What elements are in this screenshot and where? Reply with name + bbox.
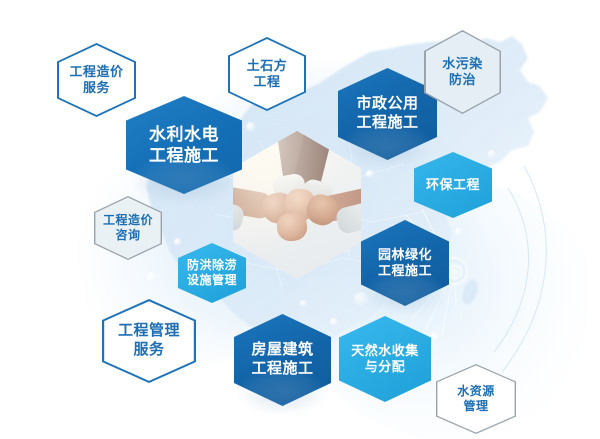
hexagon-label: 园林绿化 工程施工 (378, 247, 432, 279)
hexagon-label: 水利水电 工程施工 (149, 124, 219, 166)
hexagon-label: 土石方 工程 (247, 58, 288, 90)
hexagon-label: 水资源 管理 (457, 384, 495, 414)
hexagon-label: 工程造价 服务 (69, 64, 123, 96)
hexagon-label: 市政公用 工程施工 (356, 95, 418, 132)
hexagon-label: 房屋建筑 工程施工 (251, 341, 313, 378)
bokeh-dot (300, 300, 307, 307)
hexagon-flood-control-drainage-facility-management[interactable]: 防洪除涝 设施管理 (178, 243, 246, 303)
bokeh-dot (430, 332, 439, 341)
hexagon-water-pollution-control[interactable]: 水污染 防治 (424, 30, 501, 114)
bokeh-dot (218, 404, 234, 420)
hexagon-natural-water-collection-distribution[interactable]: 天然水收集 与分配 (339, 316, 431, 402)
bokeh-dot (455, 228, 462, 235)
hexagon-municipal-public-works-construction[interactable]: 市政公用 工程施工 (338, 68, 437, 160)
hexagon-engineering-management-service[interactable]: 工程管理 服务 (102, 299, 196, 383)
hexagon-label: 水污染 防治 (442, 56, 483, 88)
hexagon-label: 天然水收集 与分配 (351, 343, 419, 375)
bokeh-dot (366, 170, 374, 178)
hexagon-label: 防洪除涝 设施管理 (187, 258, 237, 288)
bokeh-dot (146, 272, 156, 282)
hexagon-label: 工程管理 服务 (118, 322, 180, 359)
hexagon-label: 工程造价 咨询 (103, 213, 153, 243)
hexagon-label: 环保工程 (426, 177, 480, 193)
hexagon-engineering-cost-service[interactable]: 工程造价 服务 (57, 43, 136, 117)
hexagon-water-resource-management[interactable]: 水资源 管理 (436, 364, 516, 434)
diagram-canvas: 工程造价 服务 土石方 工程 水利水电 工程施工 市政公用 工程施工 水污染 防… (0, 0, 600, 439)
bokeh-dot (330, 318, 338, 326)
hexagon-engineering-cost-consulting[interactable]: 工程造价 咨询 (94, 196, 162, 260)
hexagon-water-conservancy-hydropower-construction[interactable]: 水利水电 工程施工 (126, 96, 242, 194)
bokeh-dot (246, 122, 256, 132)
hexagon-building-construction-engineering[interactable]: 房屋建筑 工程施工 (234, 314, 331, 406)
hexagon-landscaping-engineering-construction[interactable]: 园林绿化 工程施工 (361, 220, 449, 306)
